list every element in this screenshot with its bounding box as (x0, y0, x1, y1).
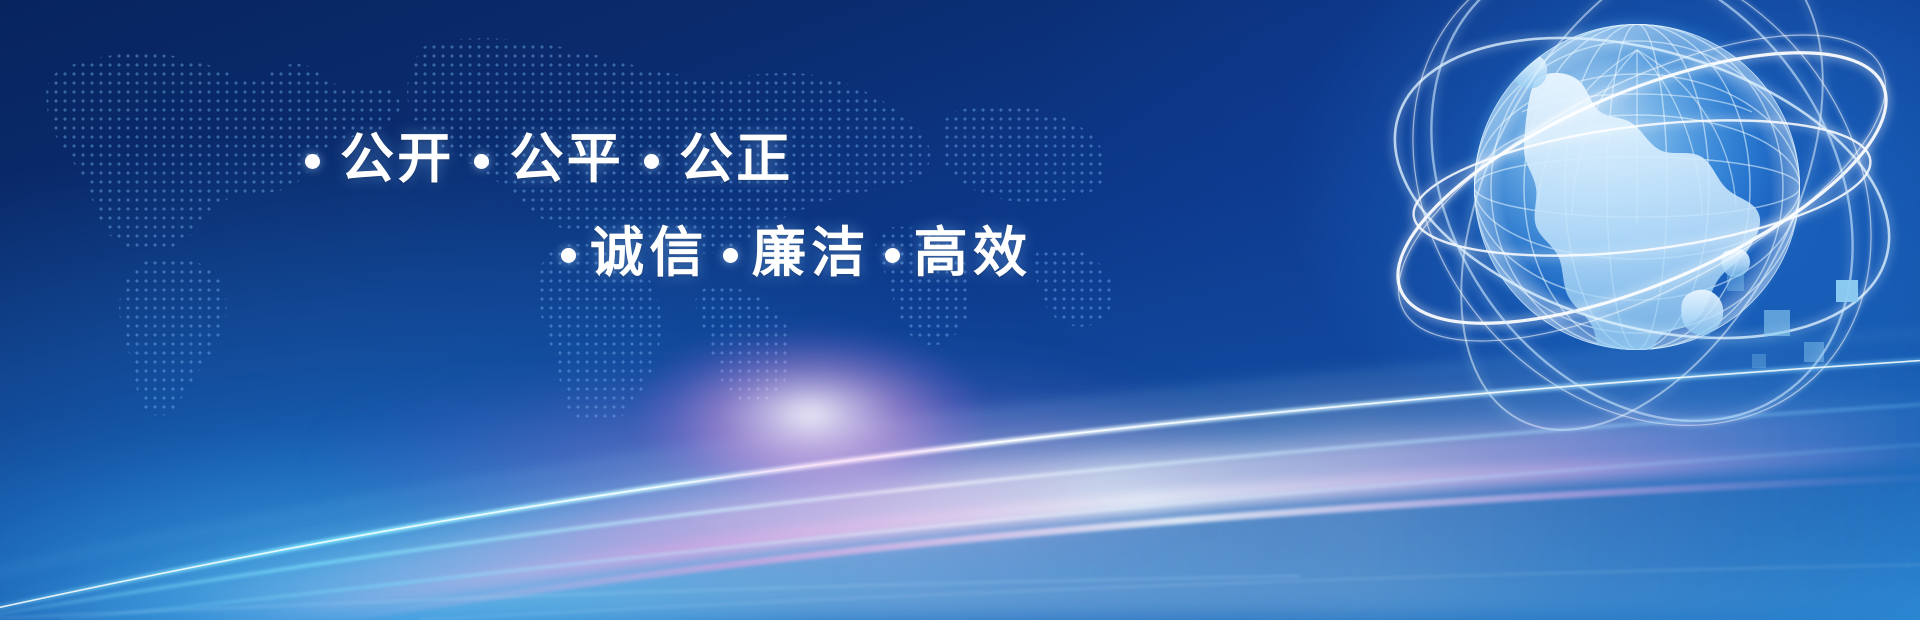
light-streaks (0, 280, 1920, 620)
bullet-dot-icon (474, 154, 489, 169)
accent-square (1698, 328, 1710, 340)
bullet-dot-icon (561, 248, 576, 263)
continent-north-america (1511, 53, 1760, 453)
light-hotspot (640, 330, 980, 500)
bullet-dot-icon (885, 248, 900, 263)
pink-haze (330, 360, 1230, 560)
slogan-word-gongping: 公平 (509, 130, 623, 188)
light-waves-graphic (0, 280, 1920, 620)
bullet-dot-icon (644, 154, 659, 169)
accent-square (1804, 342, 1824, 362)
cyan-haze (0, 400, 1380, 620)
slogan-word-gongkai: 公开 (340, 130, 454, 188)
accent-square (1836, 280, 1858, 302)
slogan-block: 公开 公平 公正 诚信 廉洁 高效 (285, 130, 1045, 283)
slogan-word-chengxin: 诚信 (590, 224, 709, 282)
slogan-word-gongzheng: 公正 (679, 130, 793, 188)
banner-root: 公开 公平 公正 诚信 廉洁 高效 (0, 0, 1920, 620)
slogan-word-lianjie: 廉洁 (752, 224, 871, 282)
bullet-dot-icon (305, 154, 320, 169)
accent-square (1727, 274, 1744, 291)
wireframe-globe-icon (1392, 0, 1862, 432)
slogan-line-2: 诚信 廉洁 高效 (285, 224, 1045, 282)
slogan-word-gaoxiao: 高效 (914, 224, 1033, 282)
bullet-dot-icon (723, 248, 738, 263)
globe-graphic (1392, 0, 1862, 432)
globe-glow (1472, 22, 1802, 352)
slogan-line-1: 公开 公平 公正 (285, 130, 1045, 188)
accent-square (1752, 354, 1766, 368)
accent-square (1764, 310, 1790, 336)
